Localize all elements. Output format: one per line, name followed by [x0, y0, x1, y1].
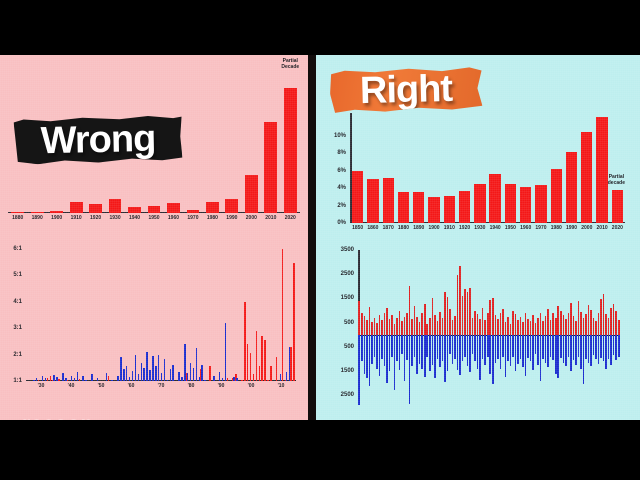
bar-negative	[583, 335, 585, 385]
bar-positive	[358, 301, 360, 335]
y-tick-label-positive: 2500	[341, 271, 358, 277]
bar-positive	[462, 296, 464, 335]
bar-positive	[605, 314, 607, 335]
bar-positive	[563, 315, 565, 335]
bar	[612, 190, 623, 223]
bar-red	[47, 378, 49, 381]
x-tick-label: '30	[38, 383, 45, 389]
x-tick-label: '80	[188, 383, 195, 389]
bar-negative	[555, 335, 557, 374]
bar-blue	[164, 359, 166, 381]
bar-red	[256, 331, 258, 381]
bar-blue	[187, 373, 189, 381]
bar-negative	[454, 335, 456, 359]
bar	[413, 192, 424, 223]
bar-positive	[505, 322, 507, 335]
bar-negative	[573, 335, 575, 360]
bar-blue	[222, 378, 224, 381]
bar-positive	[364, 316, 366, 334]
bar	[551, 169, 562, 223]
bar-positive	[399, 311, 401, 335]
bar-negative	[472, 335, 474, 354]
bar-blue	[161, 373, 163, 381]
x-tick-label: 2010	[597, 225, 608, 231]
plot-area: 50015002500350050015002500	[358, 250, 620, 405]
bar-negative	[447, 335, 449, 371]
x-tick-label: '90	[218, 383, 225, 389]
bar-positive	[484, 320, 486, 335]
bar-negative	[426, 335, 428, 357]
bar-positive	[525, 313, 527, 335]
bar-negative	[394, 335, 396, 391]
bar-positive	[542, 321, 544, 335]
bar-negative	[505, 335, 507, 377]
bar-negative	[520, 335, 522, 359]
bar-blue	[97, 378, 99, 381]
bar-positive	[439, 312, 441, 335]
bar-positive	[547, 309, 549, 334]
bar-red	[79, 379, 81, 381]
bar-positive	[429, 318, 431, 334]
bar-negative	[535, 335, 537, 354]
x-tick-label: 1910	[71, 215, 82, 221]
bar-negative	[381, 335, 383, 359]
y-tick-label-positive: 3500	[341, 247, 358, 253]
bar	[148, 206, 161, 213]
bar	[474, 184, 485, 223]
bar-positive	[600, 299, 602, 335]
bar-negative	[364, 335, 366, 374]
bar-red	[227, 378, 229, 381]
bar-negative	[414, 335, 416, 357]
bar-blue	[158, 355, 160, 381]
bar-blue	[135, 355, 137, 381]
bar-negative	[578, 335, 580, 357]
bar-positive	[588, 305, 590, 335]
bar-positive	[497, 319, 499, 335]
bar-positive	[366, 320, 368, 335]
bar-positive	[550, 320, 552, 335]
bar-positive	[507, 317, 509, 334]
bar-blue	[91, 374, 93, 381]
x-tick-label: 1850	[352, 225, 363, 231]
bar-positive	[386, 308, 388, 335]
bar-positive	[585, 314, 587, 334]
bar-positive	[568, 313, 570, 335]
bar-negative	[495, 335, 497, 363]
bar-negative	[442, 335, 444, 362]
bar-negative	[429, 335, 431, 371]
bar-red	[58, 379, 60, 381]
bar-blue	[178, 372, 180, 381]
bar-positive	[389, 319, 391, 335]
chart-right-diverging: 50015002500350050015002500	[316, 240, 640, 420]
bar-positive	[401, 321, 403, 335]
x-tick-label: 2000	[581, 225, 592, 231]
bar-negative	[358, 335, 360, 405]
bar-negative	[497, 335, 499, 359]
bar-negative	[610, 335, 612, 365]
y-tick-label: 3:1	[13, 325, 26, 331]
bar-positive	[570, 303, 572, 334]
bar-positive	[477, 314, 479, 335]
bar-blue	[152, 356, 154, 381]
x-tick-label: 1980	[551, 225, 562, 231]
bar-negative	[525, 335, 527, 376]
bar-negative	[545, 335, 547, 363]
bar-negative	[434, 335, 436, 379]
bar-negative	[474, 335, 476, 362]
bar-positive	[404, 317, 406, 335]
bar-positive	[613, 304, 615, 335]
bar-negative	[557, 335, 559, 379]
bar-negative	[600, 335, 602, 358]
bar-positive	[447, 297, 449, 335]
bar-negative	[482, 335, 484, 359]
bar-positive	[452, 320, 454, 335]
bar-positive	[502, 309, 504, 335]
bar-negative	[479, 335, 481, 380]
bar-blue	[120, 357, 122, 381]
bar-negative	[560, 335, 562, 358]
bar-blue	[111, 380, 113, 381]
bar-negative	[507, 335, 509, 362]
bar-negative	[613, 335, 615, 355]
bar-blue	[225, 323, 227, 381]
bar-negative	[608, 335, 610, 359]
bar	[535, 185, 546, 223]
bar-positive	[603, 294, 605, 335]
bar-positive	[532, 315, 534, 335]
partial-decade-annotation: Partialdecade	[608, 175, 625, 187]
x-tick-label: '00	[248, 383, 255, 389]
bar-red	[247, 344, 249, 381]
x-tick-label: 1900	[51, 215, 62, 221]
bar-positive	[396, 318, 398, 335]
bar-negative	[401, 335, 403, 354]
bar-blue	[74, 378, 76, 381]
bar-positive	[424, 304, 426, 334]
bar-negative	[399, 335, 401, 370]
bar-negative	[379, 335, 381, 376]
bar-negative	[449, 335, 451, 354]
bar-negative	[489, 335, 491, 374]
bar-negative	[502, 335, 504, 357]
bar-negative	[391, 335, 393, 357]
bar-red	[253, 374, 255, 381]
bar-negative	[462, 335, 464, 362]
bar-positive	[540, 313, 542, 335]
x-tick-label: 1980	[207, 215, 218, 221]
bar	[245, 175, 258, 213]
bar-positive	[615, 311, 617, 335]
bar	[109, 199, 122, 213]
x-tick-label: 1890	[32, 215, 43, 221]
bar-blue	[213, 376, 215, 381]
bar	[520, 187, 531, 223]
bar-negative	[603, 335, 605, 362]
bar-positive	[595, 321, 597, 335]
y-tick-label: 10%	[334, 133, 350, 139]
bar-positive	[381, 320, 383, 335]
bar-blue	[143, 368, 145, 381]
bar-positive	[489, 300, 491, 334]
bar-negative	[530, 335, 532, 362]
bar	[206, 202, 219, 213]
bar-negative	[404, 335, 406, 381]
bar-blue	[71, 376, 73, 381]
bar	[187, 210, 200, 213]
bar-positive	[432, 298, 434, 334]
x-tick-label: 1880	[398, 225, 409, 231]
bar-blue	[42, 376, 44, 381]
bar-negative	[409, 335, 411, 404]
bar-positive	[472, 318, 474, 335]
bar	[352, 171, 363, 223]
bar-positive	[479, 319, 481, 335]
x-tick-label: 1970	[535, 225, 546, 231]
bar-blue	[172, 365, 174, 381]
bar-red	[50, 376, 52, 381]
bar-positive	[527, 319, 529, 335]
bar	[225, 199, 238, 213]
x-tick-label: 1950	[148, 215, 159, 221]
bar	[11, 212, 24, 213]
bar-negative	[416, 335, 418, 374]
bar-negative	[384, 335, 386, 366]
bar-negative	[618, 335, 620, 357]
bar-positive	[608, 318, 610, 335]
bar-blue	[219, 372, 221, 381]
bar-red	[267, 380, 269, 381]
bar	[31, 212, 44, 213]
bar-positive	[369, 307, 371, 335]
y-tick-label: 6:1	[13, 246, 26, 252]
bar-red	[282, 249, 284, 381]
bar	[459, 191, 470, 223]
x-tick-label: 1890	[413, 225, 424, 231]
bar-blue	[132, 371, 134, 381]
y-tick-label-negative: 1500	[341, 368, 358, 374]
bar-positive	[500, 313, 502, 335]
bar-negative	[570, 335, 572, 371]
bar-blue	[146, 352, 148, 381]
bar-positive	[482, 308, 484, 335]
bar-negative	[563, 335, 565, 363]
x-tick-label: 1920	[90, 215, 101, 221]
bar-red	[259, 366, 261, 381]
y-tick-label: 4%	[337, 185, 350, 191]
y-tick-label: 2%	[337, 203, 350, 209]
bar-negative	[492, 335, 494, 385]
bar-negative	[371, 335, 373, 364]
annotation-line-2: decade	[608, 181, 625, 187]
bar-positive	[414, 306, 416, 335]
bar-blue	[117, 376, 119, 381]
bar-positive	[537, 318, 539, 335]
bar-blue	[138, 374, 140, 381]
bar-negative	[411, 335, 413, 366]
bar-positive	[464, 289, 466, 335]
bar-negative	[467, 335, 469, 366]
bar-positive	[555, 318, 557, 335]
bar-negative	[421, 335, 423, 369]
y-tick-label: 1:1	[13, 378, 26, 384]
badge-right-label: Right	[359, 67, 452, 112]
bar-blue	[85, 380, 87, 381]
bar-positive	[557, 306, 559, 335]
bar-negative	[424, 335, 426, 377]
bar-blue	[149, 370, 151, 381]
bar-positive	[560, 311, 562, 335]
bar-blue	[170, 369, 172, 381]
bar-negative	[515, 335, 517, 371]
bar-positive	[510, 324, 512, 335]
bar-negative	[366, 335, 368, 379]
bar-positive	[467, 292, 469, 334]
bar	[70, 202, 83, 213]
bar-red	[261, 336, 263, 381]
bar-negative	[532, 335, 534, 370]
bar-red	[241, 380, 243, 381]
bar-positive	[517, 320, 519, 335]
bar-negative	[386, 335, 388, 383]
bar-positive	[459, 266, 461, 335]
bar-blue	[141, 363, 143, 381]
bar	[367, 179, 378, 223]
bar-negative	[484, 335, 486, 365]
bar-negative	[517, 335, 519, 364]
bar-blue	[167, 380, 169, 381]
bar-negative	[361, 335, 363, 362]
bar-negative	[512, 335, 514, 357]
bar-red	[270, 366, 272, 381]
chart-wrong-ratio: 1:12:13:14:15:16:1'30'40'50'60'70'80'90'…	[0, 233, 308, 415]
bar-positive	[495, 315, 497, 334]
bar-blue	[190, 363, 192, 381]
bar-positive	[454, 316, 456, 335]
bar-blue	[204, 380, 206, 381]
bar-red	[293, 263, 295, 381]
bar-negative	[457, 335, 459, 370]
bar-positive	[406, 313, 408, 334]
bar-negative	[477, 335, 479, 369]
bar-positive	[394, 324, 396, 335]
bar-negative	[459, 335, 461, 375]
bar-blue	[201, 365, 203, 381]
bar-positive	[416, 317, 418, 334]
bar-red	[290, 347, 292, 381]
bar	[444, 196, 455, 223]
bar-blue	[193, 368, 195, 381]
bar-positive	[535, 323, 537, 335]
bar-positive	[442, 318, 444, 335]
bar-positive	[444, 292, 446, 334]
x-tick-label: 1930	[110, 215, 121, 221]
bar-blue	[196, 348, 198, 381]
bar	[264, 122, 277, 213]
bar-positive	[610, 308, 612, 335]
bar-negative	[568, 335, 570, 357]
bar-negative	[580, 335, 582, 369]
bar-negative	[510, 335, 512, 366]
x-tick-label: 2010	[265, 215, 276, 221]
plot-area: 0%2%4%6%8%10%185018601870188018901900191…	[350, 113, 625, 223]
x-tick-label: 2020	[612, 225, 623, 231]
bar-positive	[575, 321, 577, 335]
bar-negative	[432, 335, 434, 365]
bar-negative	[464, 335, 466, 357]
bar-negative	[540, 335, 542, 381]
bar-blue	[62, 373, 64, 381]
bar-negative	[542, 335, 544, 359]
bar	[505, 184, 516, 223]
x-tick-label: 1940	[129, 215, 140, 221]
bar-negative	[522, 335, 524, 368]
letterbox-top	[0, 0, 640, 55]
x-tick-label: '50	[98, 383, 105, 389]
bar-positive	[492, 298, 494, 335]
letterbox-bottom	[0, 420, 640, 480]
panel-divider	[308, 55, 316, 420]
badge-wrong-label: Wrong	[40, 117, 155, 162]
x-tick-label: 1920	[459, 225, 470, 231]
bar-positive	[593, 318, 595, 335]
x-tick-label: 2020	[285, 215, 296, 221]
bar	[566, 152, 577, 223]
bar	[89, 204, 102, 213]
bar	[581, 132, 592, 223]
bar-negative	[444, 335, 446, 382]
bar	[50, 211, 63, 213]
bar-positive	[469, 288, 471, 335]
x-tick-label: 1900	[428, 225, 439, 231]
bar-blue	[126, 366, 128, 381]
bar-positive	[522, 322, 524, 335]
bar-negative	[452, 335, 454, 364]
y-tick-label: 5:1	[13, 272, 26, 278]
bar-negative	[595, 335, 597, 359]
bar-red	[244, 302, 246, 381]
bar	[167, 203, 180, 213]
bar-blue	[129, 377, 131, 381]
y-tick-label-positive: 500	[344, 320, 358, 326]
bar-positive	[409, 286, 411, 334]
bar-negative	[396, 335, 398, 362]
bar-negative	[419, 335, 421, 364]
bar-negative	[500, 335, 502, 369]
bar-red	[108, 376, 110, 381]
bar-positive	[437, 321, 439, 335]
bar-positive	[371, 322, 373, 335]
video-frame: Wrong 1880189019001910192019301940195019…	[0, 0, 640, 480]
bar-negative	[547, 335, 549, 368]
x-tick-label: 1990	[226, 215, 237, 221]
bar-negative	[615, 335, 617, 360]
x-tick-label: '70	[158, 383, 165, 389]
bar-negative	[550, 335, 552, 357]
bar-negative	[537, 335, 539, 365]
bar-negative	[437, 335, 439, 359]
bar-positive	[449, 309, 451, 334]
bar-positive	[384, 313, 386, 335]
bar	[489, 174, 500, 223]
panel-right: Right 0%2%4%6%8%10%185018601870188018901…	[316, 55, 640, 420]
bar-negative	[376, 335, 378, 369]
y-tick-label: 6%	[337, 168, 350, 174]
x-tick-label: 1970	[187, 215, 198, 221]
bar-blue	[53, 375, 55, 381]
